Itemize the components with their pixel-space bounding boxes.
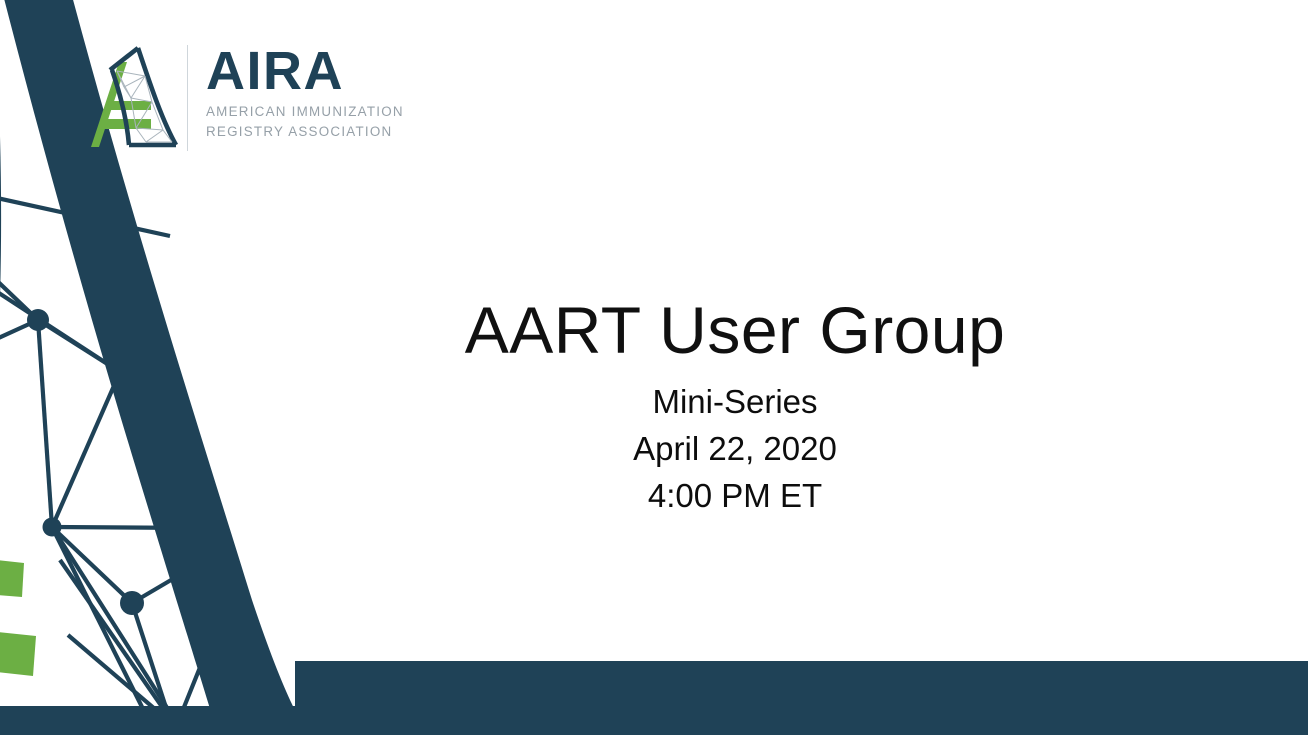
aira-wordmark: AIRA bbox=[206, 40, 391, 102]
title-block: AART User Group Mini-Series April 22, 20… bbox=[430, 288, 1040, 519]
green-a-crossbar bbox=[0, 556, 36, 676]
title-slide: AIRA AMERICAN IMMUNIZATION REGISTRY ASSO… bbox=[0, 0, 1308, 735]
slide-title: AART User Group bbox=[430, 288, 1040, 372]
footer-bar bbox=[295, 661, 1308, 735]
network-lines bbox=[0, 150, 236, 727]
logo-subtitle-line-2: REGISTRY ASSOCIATION bbox=[206, 122, 391, 142]
aira-logo: AIRA AMERICAN IMMUNIZATION REGISTRY ASSO… bbox=[88, 40, 388, 156]
navy-a-outline bbox=[110, 48, 176, 145]
subtitle-line-series: Mini-Series bbox=[430, 378, 1040, 425]
subtitle-line-time: 4:00 PM ET bbox=[430, 472, 1040, 519]
logo-text-group: AIRA AMERICAN IMMUNIZATION REGISTRY ASSO… bbox=[206, 40, 391, 142]
subtitle-line-date: April 22, 2020 bbox=[430, 425, 1040, 472]
a-baseline bbox=[0, 706, 300, 735]
network-nodes bbox=[27, 309, 185, 735]
a-left-leg bbox=[0, 0, 1, 735]
slide-subtitle-block: Mini-Series April 22, 2020 4:00 PM ET bbox=[430, 378, 1040, 519]
aira-triangle-network-logo-icon bbox=[88, 40, 184, 154]
logo-divider bbox=[187, 45, 188, 151]
logo-subtitle-line-1: AMERICAN IMMUNIZATION bbox=[206, 102, 391, 122]
